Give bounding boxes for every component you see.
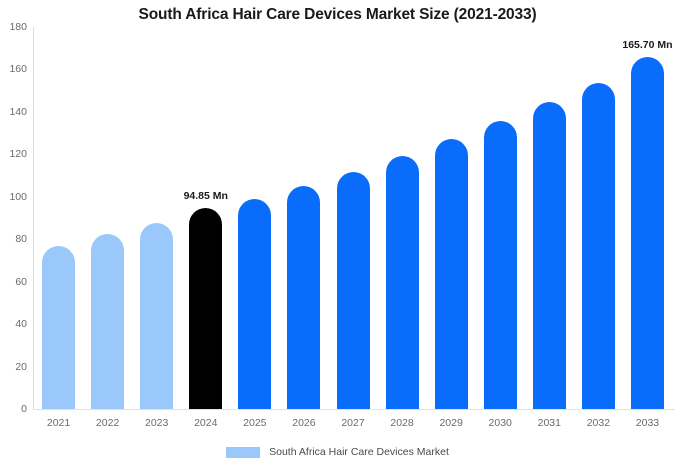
bar-2030[interactable] [484,27,517,409]
bar-rect[interactable] [386,156,419,409]
y-axis-tick-label: 120 [0,148,27,160]
chart-title: South Africa Hair Care Devices Market Si… [0,6,675,24]
bar-rect[interactable] [140,223,173,409]
bar-2032[interactable] [582,27,615,409]
y-axis-tick-label: 0 [0,403,27,415]
x-axis-tick-label: 2032 [587,417,610,429]
bar-2029[interactable] [435,27,468,409]
bar-rect[interactable] [484,121,517,409]
y-axis-tick-label: 140 [0,106,27,118]
chart-legend: South Africa Hair Care Devices Market [0,446,675,458]
bar-2028[interactable] [386,27,419,409]
bar-rect[interactable] [42,246,75,409]
x-axis-tick-label: 2029 [439,417,462,429]
y-axis-tick-label: 160 [0,63,27,75]
bar-rect[interactable] [631,57,664,409]
bar-2033[interactable] [631,27,664,409]
y-axis-tick-label: 60 [0,276,27,288]
bar-2031[interactable] [533,27,566,409]
bar-2026[interactable] [287,27,320,409]
bar-rect[interactable] [582,83,615,409]
x-axis-tick-label: 2030 [489,417,512,429]
bar-rect[interactable] [287,186,320,409]
bar-rect[interactable] [91,234,124,409]
y-axis-tick-label: 180 [0,21,27,33]
x-axis-tick-label: 2033 [636,417,659,429]
bar-value-label: 94.85 Mn [184,190,228,202]
x-axis-tick-label: 2022 [96,417,119,429]
bar-2027[interactable] [337,27,370,409]
x-axis-tick-label: 2023 [145,417,168,429]
x-axis-tick-label: 2021 [47,417,70,429]
y-axis-tick-label: 80 [0,233,27,245]
x-axis-tick-label: 2027 [341,417,364,429]
bar-rect[interactable] [337,172,370,409]
bar-rect[interactable] [189,208,222,409]
x-axis-tick-label: 2031 [538,417,561,429]
bar-2024[interactable] [189,27,222,409]
bar-rect[interactable] [435,139,468,409]
y-axis-tick-label: 100 [0,191,27,203]
bar-2022[interactable] [91,27,124,409]
bar-2025[interactable] [238,27,271,409]
x-axis-tick-label: 2028 [390,417,413,429]
x-axis-baseline [33,409,675,410]
y-axis-tick-label: 40 [0,318,27,330]
bars-layer [34,27,675,409]
x-axis-tick-label: 2026 [292,417,315,429]
legend-label: South Africa Hair Care Devices Market [269,446,449,458]
bar-rect[interactable] [533,102,566,409]
chart-container: South Africa Hair Care Devices Market Si… [0,0,675,469]
x-axis-tick-label: 2025 [243,417,266,429]
bar-2023[interactable] [140,27,173,409]
legend-swatch-icon [226,447,260,458]
y-axis-tick-label: 20 [0,361,27,373]
bar-2021[interactable] [42,27,75,409]
bar-rect[interactable] [238,199,271,409]
bar-value-label: 165.70 Mn [622,39,672,51]
x-axis-tick-label: 2024 [194,417,217,429]
